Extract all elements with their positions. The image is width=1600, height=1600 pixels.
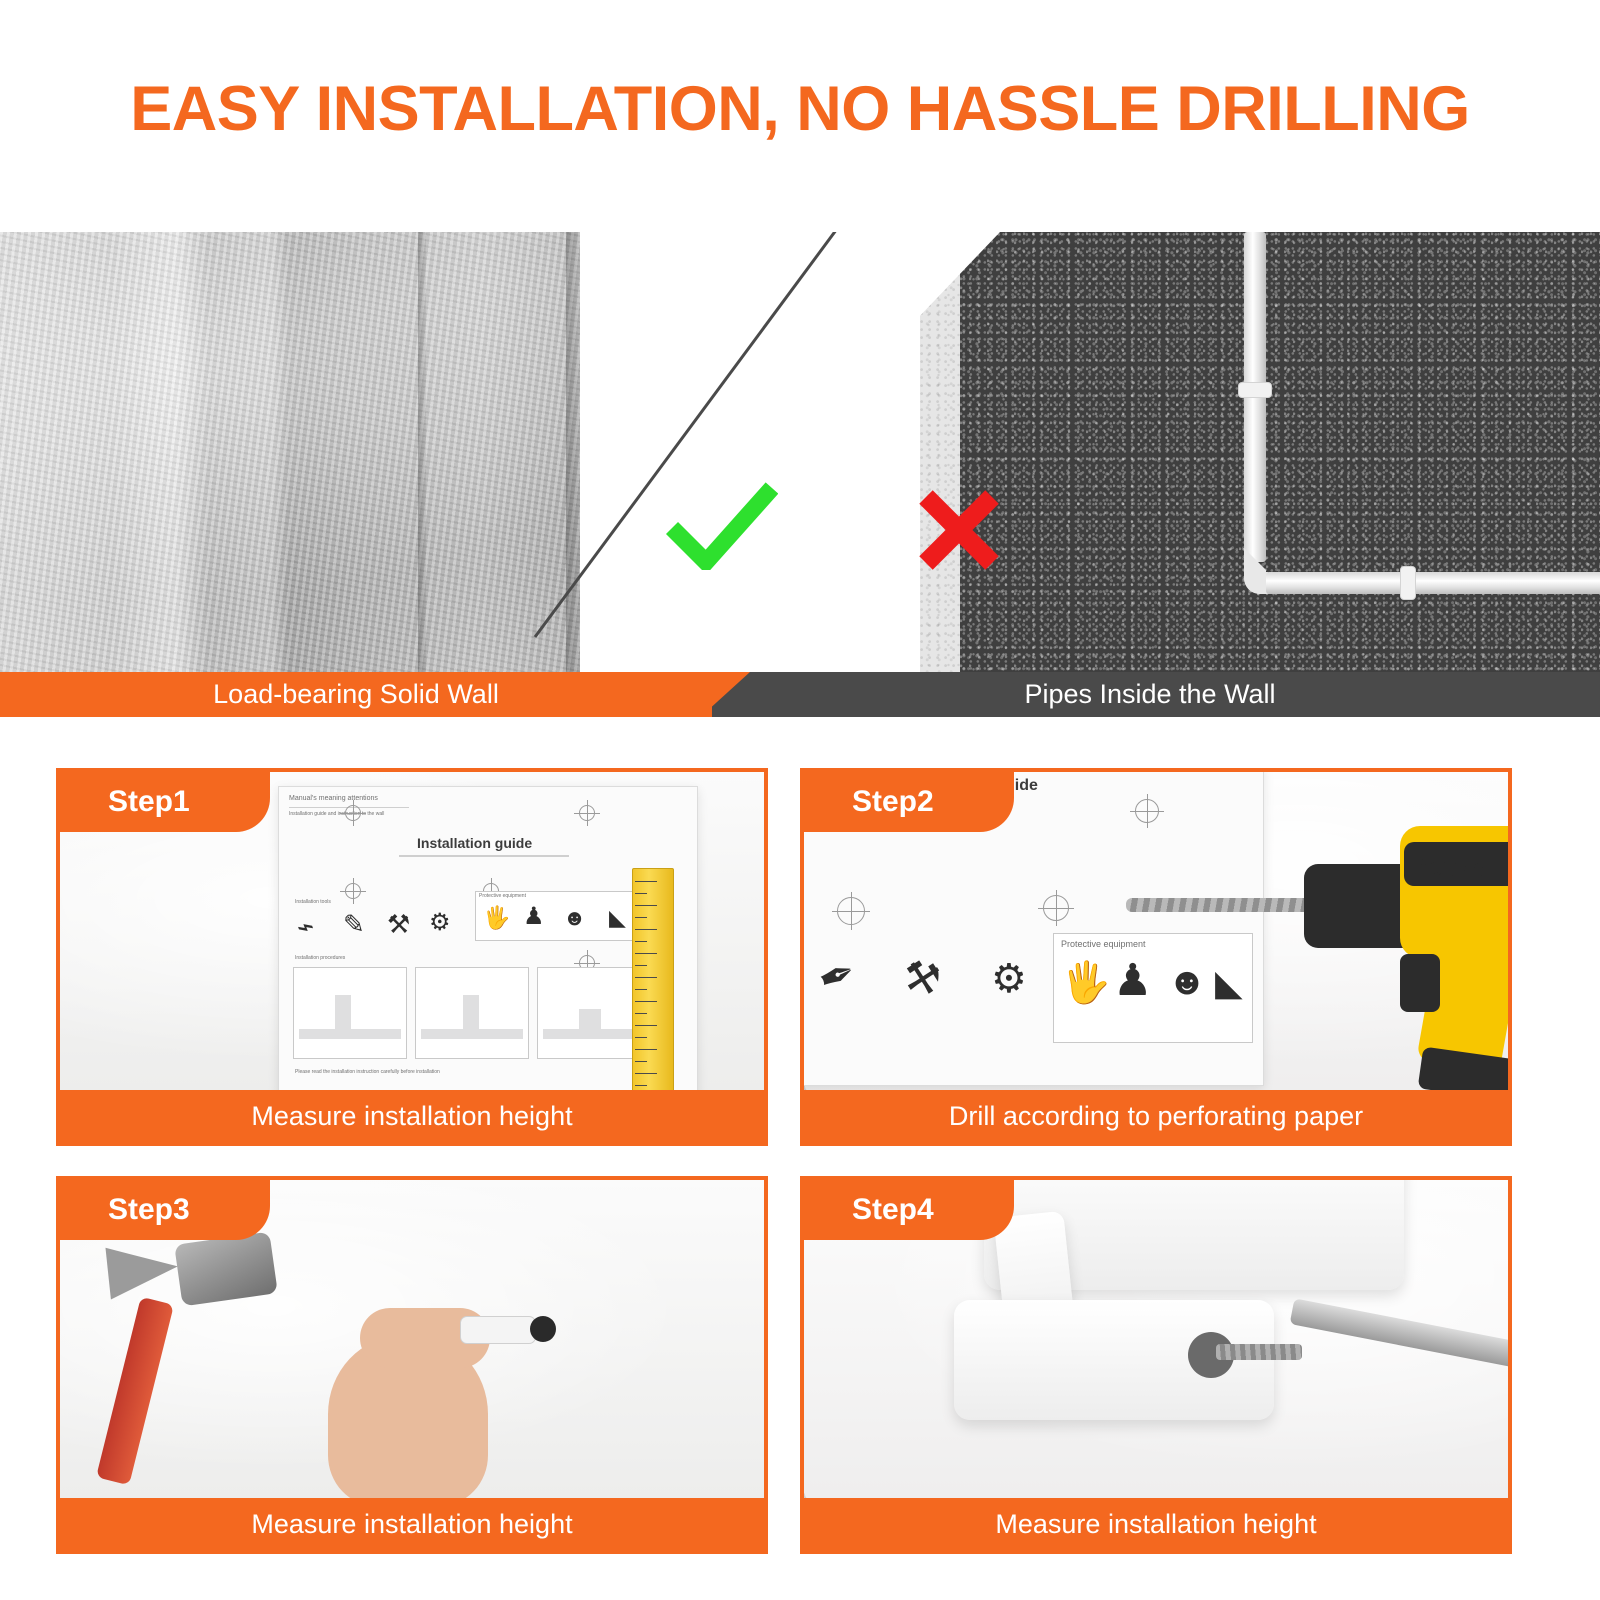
step-2-caption: Drill according to perforating paper	[804, 1090, 1508, 1142]
goggles-face-icon: ☻	[1167, 963, 1207, 1001]
page-title: EASY INSTALLATION, NO HASSLE DRILLING	[0, 0, 1600, 141]
screwdriver-glyph-icon: ✎	[343, 911, 365, 937]
comparison-band: Pipes Inside the Wall Load-bearing Solid…	[0, 232, 1600, 717]
check-mark-icon	[666, 480, 778, 570]
goggles-icon: ☻	[563, 907, 586, 929]
sheet-foot-note: Please read the installation instruction…	[295, 1069, 440, 1075]
sheet-row1-label: Installation tools	[295, 899, 331, 905]
drill-trigger	[1400, 954, 1440, 1012]
sheet-title: Installation guide	[417, 835, 532, 851]
screwdriver-icon: ✒	[812, 950, 863, 1005]
hammer-claw	[105, 1240, 180, 1299]
wrench-glyph-icon: ⚙	[429, 911, 451, 935]
hammer-head	[174, 1232, 278, 1307]
step-card-4[interactable]: Step4 Measure installation height	[800, 1176, 1512, 1554]
caption-pipes-wall: Pipes Inside the Wall	[700, 672, 1600, 717]
step-card-1[interactable]: Manual's meaning attentions Installation…	[56, 768, 768, 1146]
target-icon	[579, 805, 595, 821]
target-icon	[837, 897, 865, 925]
drilled-hole	[530, 1316, 556, 1342]
hammer-icon: ⚒	[899, 954, 945, 1003]
caption-solid-wall: Load-bearing Solid Wall	[0, 672, 712, 717]
screw-shaft	[1216, 1344, 1302, 1360]
boots-icon: ◣	[1215, 965, 1243, 1001]
protective-equipment-label: Protective equipment	[1061, 939, 1146, 949]
step-1-badge: Step1	[60, 772, 270, 832]
sheet-row3-label: Installation procedures	[295, 955, 345, 961]
step-3-caption: Measure installation height	[60, 1498, 764, 1550]
coverall-icon: ♟	[523, 905, 545, 929]
step-1-caption: Measure installation height	[60, 1090, 764, 1142]
step-4-badge: Step4	[804, 1180, 1014, 1240]
target-icon	[1043, 895, 1069, 921]
wall-anchor	[460, 1316, 536, 1344]
step-card-3[interactable]: Step3 Measure installation height	[56, 1176, 768, 1554]
drill-bit	[1126, 898, 1316, 912]
target-icon	[1135, 799, 1159, 823]
step-2-badge: Step2	[804, 772, 1014, 832]
step-3-badge: Step3	[60, 1180, 270, 1240]
sheet-small-heading: Manual's meaning attentions	[289, 795, 378, 802]
sheet-sub-note: Installation guide and instruction to th…	[289, 811, 384, 817]
step-4-caption: Measure installation height	[804, 1498, 1508, 1550]
coverall-icon: ♟	[1113, 959, 1152, 1003]
drill-glyph-icon: ⌁	[293, 911, 318, 943]
sheet-row2-label: Protective equipment	[479, 893, 526, 899]
target-icon	[345, 883, 361, 899]
target-icon	[345, 805, 361, 821]
step-card-2[interactable]: uide ✒ ⚒ ⚙ Protective equipment 🖐 ♟ ☻ ◣	[800, 768, 1512, 1146]
steps-grid: Manual's meaning attentions Installation…	[56, 768, 1512, 1554]
pipe-horizontal-icon	[1266, 572, 1600, 594]
gloves-icon: 🖐	[1061, 963, 1111, 1003]
wrench-icon: ⚙	[991, 959, 1027, 999]
boots-icon: ◣	[609, 907, 626, 929]
ruler	[632, 868, 674, 1090]
gloves-icon: 🖐	[483, 907, 510, 929]
cross-mark-icon	[916, 487, 1002, 573]
drill-brand-label: DeWALT	[1408, 852, 1508, 883]
hammer-glyph-icon: ⚒	[387, 911, 410, 937]
